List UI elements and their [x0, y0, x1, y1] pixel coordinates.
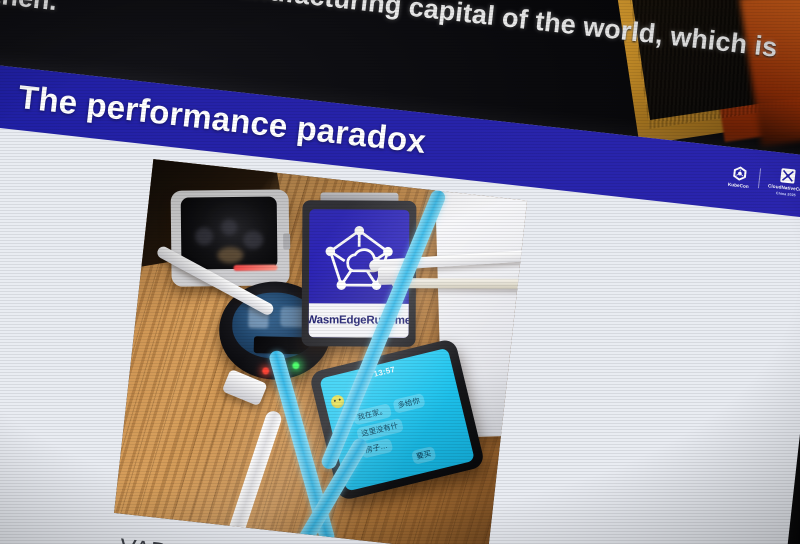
- kubernetes-helm-icon: [730, 164, 749, 183]
- live-caption-line-2: zhen.: [0, 0, 59, 17]
- slide-photo: WasmEdgeRuntime 13:57 我在家。 这里没有什 房子… 多给你…: [114, 159, 527, 544]
- kubecon-logo: KubeCon: [728, 163, 752, 189]
- chat-message: 多给你: [392, 393, 425, 414]
- live-caption-line-1: e so close to the manufacturing capital …: [0, 0, 779, 64]
- logo-divider: [758, 169, 761, 189]
- chat-message: 要买: [411, 446, 437, 465]
- cloudnativecon-logo: CloudNativeCon China 2025: [767, 165, 800, 198]
- dev-board-led-strip: [233, 265, 277, 271]
- dev-board-port: [283, 233, 290, 249]
- kubecon-logo-label: KubeCon: [728, 181, 750, 189]
- dev-board-screen: [181, 197, 278, 270]
- cncf-square-icon: [778, 166, 797, 185]
- screenshot-stage: e so close to the manufacturing capital …: [0, 0, 800, 544]
